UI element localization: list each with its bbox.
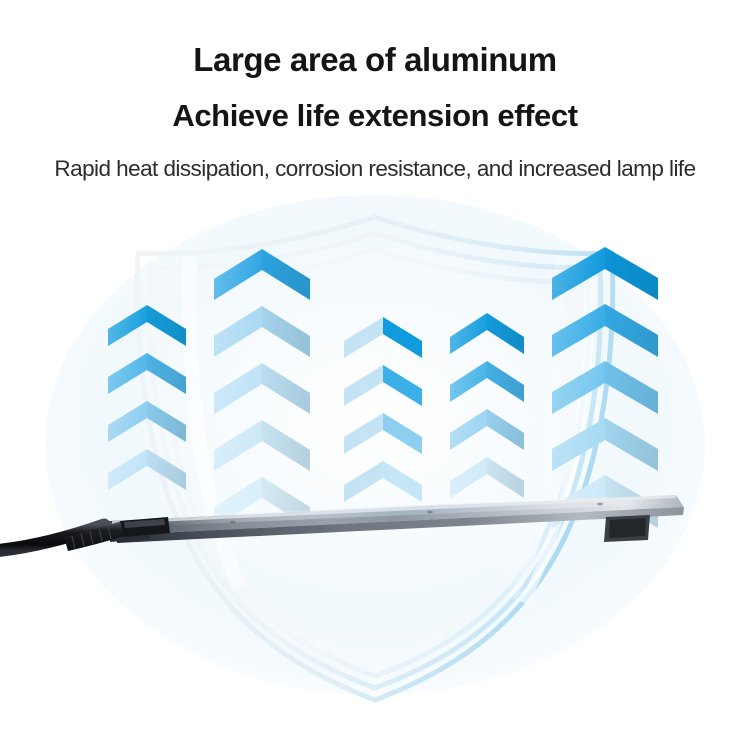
headline-line-1: Large area of aluminum xyxy=(0,40,750,80)
subheadline-text: Rapid heat dissipation, corrosion resist… xyxy=(0,154,750,184)
infographic-page: Large area of aluminum Achieve life exte… xyxy=(0,0,750,750)
background-glow xyxy=(45,195,705,695)
plate-right-bracket-inner xyxy=(609,518,646,538)
product-illustration xyxy=(0,195,750,715)
headline-line-2: Achieve life extension effect xyxy=(0,96,750,136)
